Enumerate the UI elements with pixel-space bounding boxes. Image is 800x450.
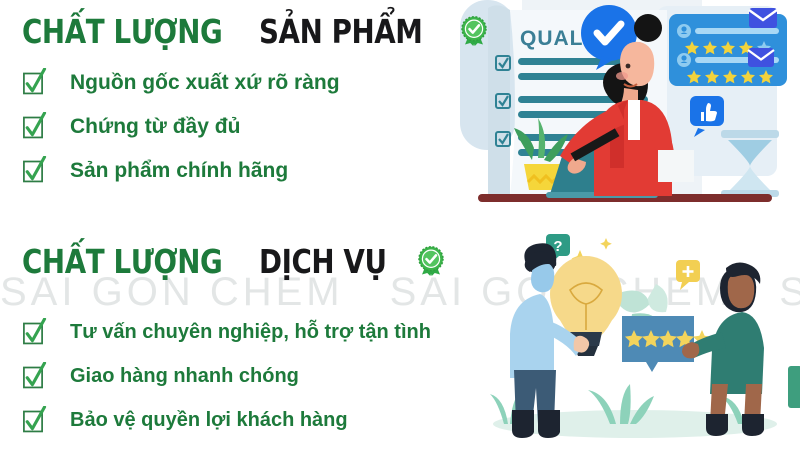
checkbox-checked-icon xyxy=(22,318,48,346)
envelope-icon-1 xyxy=(749,8,777,28)
verified-rosette-icon xyxy=(459,16,489,46)
list-item: Tư vấn chuyên nghiệp, hỗ trợ tận tình xyxy=(0,310,470,354)
checkbox-checked-icon xyxy=(22,68,48,96)
list-item-label: Bảo vệ quyền lợi khách hàng xyxy=(70,410,348,430)
list-item-label: Chứng từ đầy đủ xyxy=(70,116,240,137)
checkbox-checked-icon xyxy=(22,156,48,184)
list-item-label: Nguồn gốc xuất xứ rõ ràng xyxy=(70,72,340,93)
section-service-quality: CHẤT LƯỢNG DỊCH VỤ Tư vấn chuyên nghiệp,… xyxy=(0,238,470,442)
heading-service-black: DỊCH VỤ xyxy=(259,245,387,278)
quality-checklist-illustration: QUALITY xyxy=(452,0,800,215)
list-item: Chứng từ đầy đủ xyxy=(0,104,470,148)
checkbox-checked-icon xyxy=(22,406,48,434)
customer-service-illustration: ? xyxy=(470,228,800,450)
list-item: Bảo vệ quyền lợi khách hàng xyxy=(0,398,470,442)
heading-service-green: CHẤT LƯỢNG xyxy=(22,245,222,278)
heading-product-green: CHẤT LƯỢNG xyxy=(22,15,222,48)
envelope-icon-2 xyxy=(748,48,774,67)
verified-rosette-icon xyxy=(416,246,446,276)
checkbox-checked-icon xyxy=(22,362,48,390)
service-quality-list: Tư vấn chuyên nghiệp, hỗ trợ tận tình Gi… xyxy=(0,310,470,442)
list-item: Nguồn gốc xuất xứ rõ ràng xyxy=(0,60,470,104)
product-quality-list: Nguồn gốc xuất xứ rõ ràng Chứng từ đầy đ… xyxy=(0,60,470,192)
heading-product-quality: CHẤT LƯỢNG SẢN PHẨM xyxy=(0,8,470,54)
list-item: Giao hàng nhanh chóng xyxy=(0,354,470,398)
list-item-label: Giao hàng nhanh chóng xyxy=(70,366,299,386)
promo-banner: SAI GON CHEM SAI GON CHEM SAI GON CHEM Q… xyxy=(0,0,800,450)
checkbox-checked-icon xyxy=(22,112,48,140)
woman-holding-rating-card xyxy=(682,262,764,436)
heading-product-black: SẢN PHẨM xyxy=(259,15,422,48)
edge-accent-card xyxy=(788,366,800,408)
list-item-label: Tư vấn chuyên nghiệp, hỗ trợ tận tình xyxy=(70,322,431,342)
list-item: Sản phẩm chính hãng xyxy=(0,148,470,192)
section-product-quality: CHẤT LƯỢNG SẢN PHẨM Nguồn gốc xuất xứ rõ… xyxy=(0,8,470,192)
plus-bubble-icon xyxy=(676,260,700,290)
heading-service-quality: CHẤT LƯỢNG DỊCH VỤ xyxy=(0,238,470,284)
list-item-label: Sản phẩm chính hãng xyxy=(70,160,288,181)
